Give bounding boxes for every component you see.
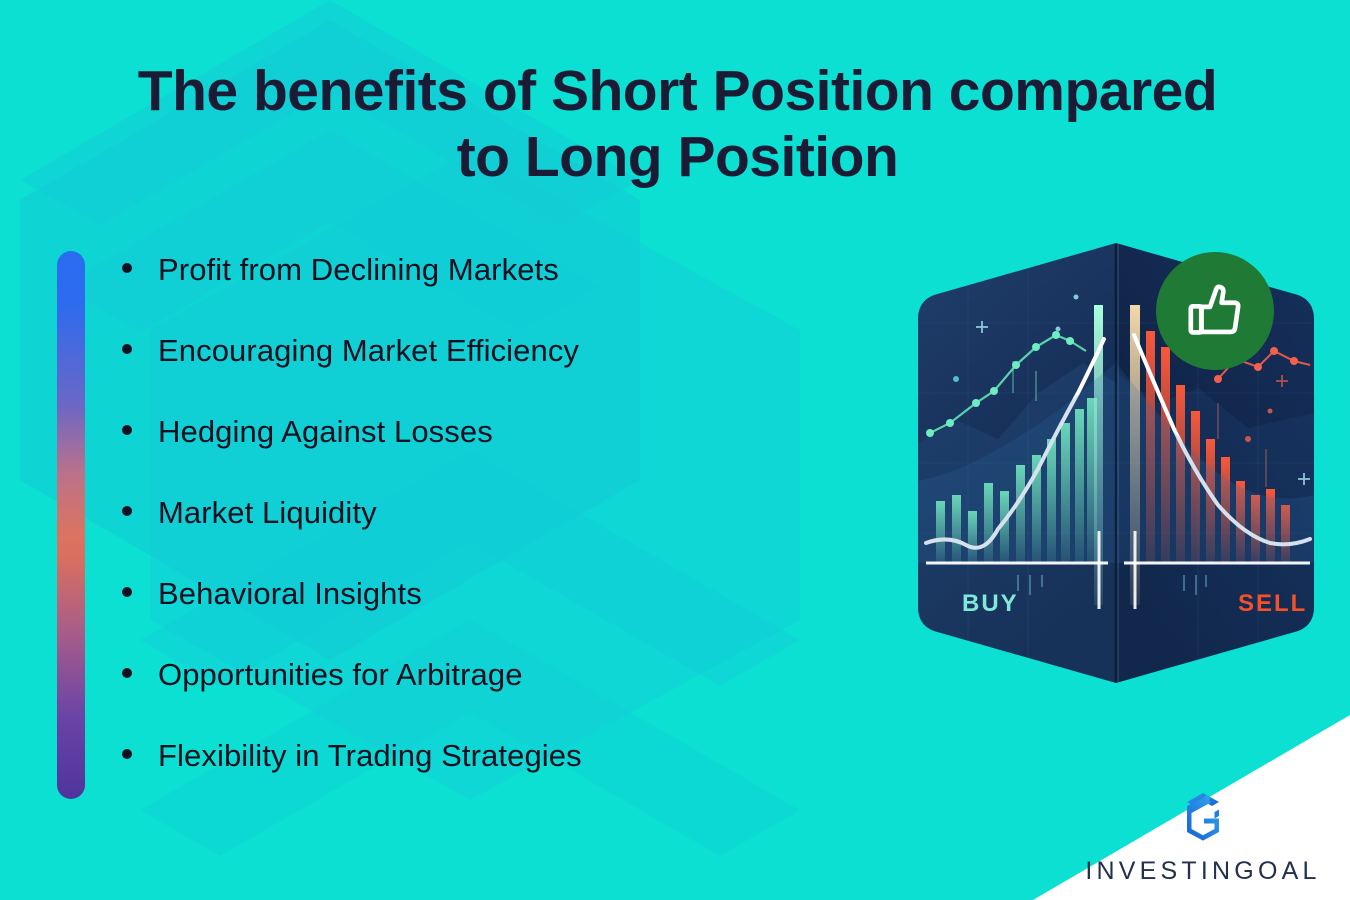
list-item: Market Liquidity <box>122 495 822 576</box>
page-title: The benefits of Short Position compared … <box>60 58 1295 190</box>
list-item-label: Encouraging Market Efficiency <box>158 333 579 369</box>
accent-gradient-rail <box>57 251 85 799</box>
list-item: Behavioral Insights <box>122 576 822 657</box>
list-item-label: Opportunities for Arbitrage <box>158 657 523 693</box>
sell-label: SELL <box>1238 590 1307 617</box>
list-item-label: Behavioral Insights <box>158 576 422 612</box>
list-item: Hedging Against Losses <box>122 414 822 495</box>
page-title-line-2: to Long Position <box>60 124 1295 190</box>
investingoal-hex-g-icon <box>1171 789 1235 853</box>
bullet-dot-icon <box>122 587 132 597</box>
thumbs-up-icon <box>1182 278 1248 344</box>
list-item: Opportunities for Arbitrage <box>122 657 822 738</box>
list-item-label: Hedging Against Losses <box>158 414 493 450</box>
benefits-list: Profit from Declining Markets Encouragin… <box>122 252 822 819</box>
list-item-label: Flexibility in Trading Strategies <box>158 738 582 774</box>
bullet-dot-icon <box>122 263 132 273</box>
list-item: Flexibility in Trading Strategies <box>122 738 822 819</box>
brand-logo: INVESTINGOAL <box>1078 789 1328 886</box>
status-badge <box>1156 252 1274 370</box>
bullet-dot-icon <box>122 668 132 678</box>
bullet-dot-icon <box>122 506 132 516</box>
list-item-label: Profit from Declining Markets <box>158 252 559 288</box>
list-item: Profit from Declining Markets <box>122 252 822 333</box>
bullet-dot-icon <box>122 344 132 354</box>
buy-label: BUY <box>962 590 1019 617</box>
infographic-canvas: The benefits of Short Position compared … <box>0 0 1350 900</box>
brand-wordmark: INVESTINGOAL <box>1085 857 1320 886</box>
bullet-dot-icon <box>122 425 132 435</box>
bullet-dot-icon <box>122 749 132 759</box>
list-item-label: Market Liquidity <box>158 495 377 531</box>
list-item: Encouraging Market Efficiency <box>122 333 822 414</box>
page-title-line-1: The benefits of Short Position compared <box>60 58 1295 124</box>
